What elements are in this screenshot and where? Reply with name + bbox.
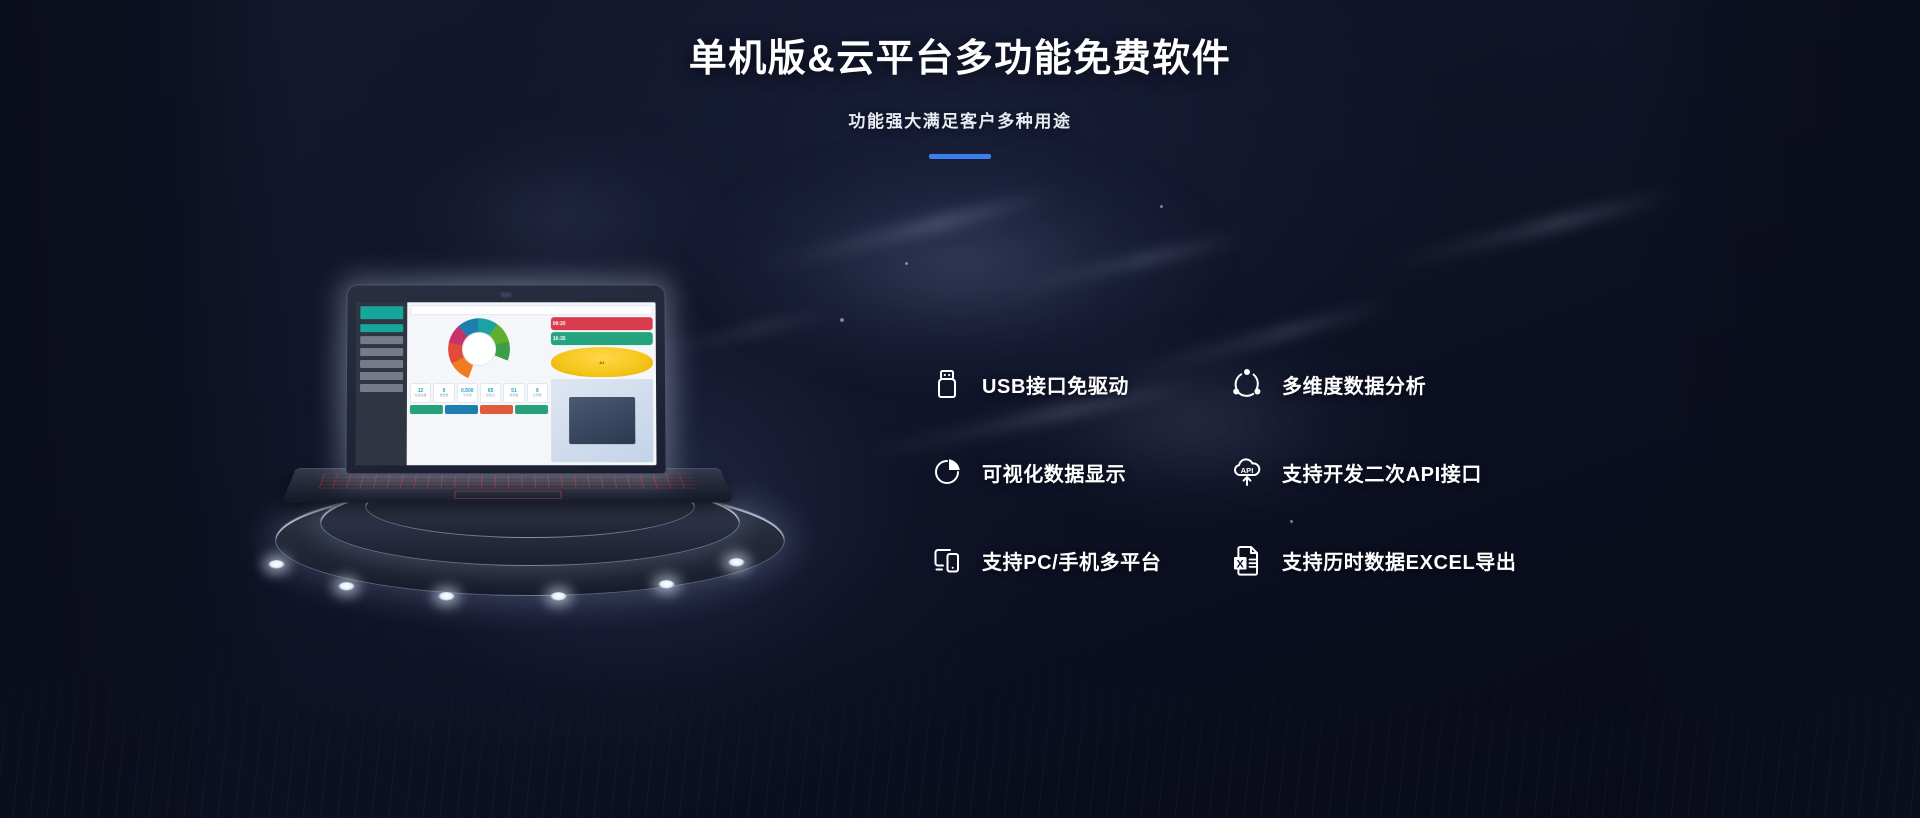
dust-speck — [840, 318, 844, 322]
bulb-label: A1 — [599, 360, 604, 365]
dashboard-left-column: 12 在线设备 9 告警数 0.500 平均值 — [410, 317, 548, 462]
kpi-label: 记录数 — [533, 394, 542, 397]
dashboard-tag[interactable] — [515, 405, 548, 414]
dashboard-right-column: 09:20 16:35 A1 — [551, 317, 654, 462]
dashboard-breadcrumb — [410, 305, 652, 315]
podium-lamp — [338, 582, 355, 591]
laptop-screen: 12 在线设备 9 告警数 0.500 平均值 — [355, 302, 656, 465]
webcam-icon — [500, 291, 513, 298]
light-streak — [763, 189, 1057, 272]
feature-label: 支持开发二次API接口 — [1282, 458, 1482, 487]
header: 单机版&云平台多功能免费软件 功能强大满足客户多种用途 — [0, 0, 1920, 159]
bubble-time: 09:20 — [553, 321, 566, 327]
kpi-label: 通道数 — [509, 394, 518, 397]
kpi-card: 12 在线设备 — [410, 383, 431, 403]
donut-center — [462, 332, 496, 366]
feature-item-excel-export[interactable]: X 支持历时数据EXCEL导出 — [1228, 541, 1528, 579]
light-streak — [1002, 232, 1247, 296]
feature-list: USB接口免驱动 多维度数据分析 — [928, 365, 1528, 579]
multi-dimension-icon — [1228, 365, 1266, 403]
devices-illustration — [551, 379, 654, 462]
light-streak — [1383, 189, 1677, 271]
dust-speck — [905, 262, 908, 265]
excel-file-icon: X — [1228, 541, 1266, 579]
devices-icon — [928, 541, 966, 579]
floor-grid — [0, 608, 1920, 818]
bubble-time: 16:35 — [553, 336, 566, 342]
trackpad — [454, 491, 562, 499]
kpi-label: 采集点 — [486, 394, 495, 397]
kpi-label: 平均值 — [463, 394, 472, 397]
kpi-card: 9 告警数 — [433, 383, 454, 403]
kpi-row: 12 在线设备 9 告警数 0.500 平均值 — [410, 383, 548, 403]
page-subtitle: 功能强大满足客户多种用途 — [0, 107, 1920, 132]
bulb-icon: A1 — [551, 347, 653, 377]
kpi-label: 在线设备 — [415, 394, 427, 397]
podium-lamp — [728, 558, 745, 567]
kpi-card: 51 通道数 — [503, 383, 524, 403]
laptop-on-podium: 12 在线设备 9 告警数 0.500 平均值 — [250, 268, 810, 598]
dashboard-nav-item[interactable] — [360, 324, 403, 332]
usb-drive-icon — [928, 365, 966, 403]
svg-text:X: X — [1237, 558, 1245, 570]
dashboard-sidebar — [355, 302, 407, 465]
dashboard-nav-item[interactable] — [360, 348, 403, 356]
podium-lamp — [658, 580, 675, 589]
status-bubble: 09:20 — [551, 317, 653, 330]
dashboard-tag[interactable] — [480, 405, 513, 414]
feature-label: 可视化数据显示 — [982, 458, 1126, 487]
laptop-lid: 12 在线设备 9 告警数 0.500 平均值 — [345, 284, 666, 474]
podium-lamp — [438, 592, 455, 601]
keyboard — [318, 473, 697, 488]
kpi-card: 0.500 平均值 — [457, 383, 478, 403]
feature-item-api[interactable]: API 支持开发二次API接口 — [1228, 453, 1528, 491]
feature-item-usb[interactable]: USB接口免驱动 — [928, 365, 1228, 403]
podium-lamp — [550, 592, 567, 601]
hero-background: 单机版&云平台多功能免费软件 功能强大满足客户多种用途 — [0, 0, 1920, 818]
feature-item-multi-dimension[interactable]: 多维度数据分析 — [1228, 365, 1528, 403]
donut-chart — [410, 317, 548, 381]
dashboard-tag-row — [410, 405, 548, 414]
dashboard-tag[interactable] — [445, 405, 478, 414]
feature-label: 支持PC/手机多平台 — [982, 546, 1161, 575]
feature-label: USB接口免驱动 — [982, 370, 1129, 399]
kpi-card: 65 采集点 — [480, 383, 501, 403]
feature-label: 多维度数据分析 — [1282, 370, 1426, 399]
status-bubble: 16:35 — [551, 332, 653, 345]
dashboard-logo — [360, 306, 403, 319]
feature-item-multiplatform[interactable]: 支持PC/手机多平台 — [928, 541, 1228, 579]
dashboard-tag[interactable] — [410, 405, 443, 414]
api-cloud-icon: API — [1228, 453, 1266, 491]
accent-divider — [929, 154, 991, 159]
feature-item-visualization[interactable]: 可视化数据显示 — [928, 453, 1228, 491]
dashboard-nav-item[interactable] — [360, 360, 403, 368]
dashboard-nav-item[interactable] — [360, 384, 403, 392]
page-title: 单机版&云平台多功能免费软件 — [0, 27, 1920, 82]
kpi-label: 告警数 — [439, 394, 448, 397]
dust-speck — [1160, 205, 1163, 208]
pie-chart-icon — [928, 453, 966, 491]
dashboard-body: 12 在线设备 9 告警数 0.500 平均值 — [410, 317, 654, 462]
kpi-card: 9 记录数 — [527, 383, 548, 403]
dashboard-nav-item[interactable] — [360, 372, 403, 380]
svg-text:API: API — [1241, 466, 1254, 475]
dashboard-main: 12 在线设备 9 告警数 0.500 平均值 — [407, 302, 657, 465]
feature-label: 支持历时数据EXCEL导出 — [1282, 546, 1516, 575]
dashboard-nav-item[interactable] — [360, 336, 403, 344]
podium-lamp — [268, 560, 285, 569]
